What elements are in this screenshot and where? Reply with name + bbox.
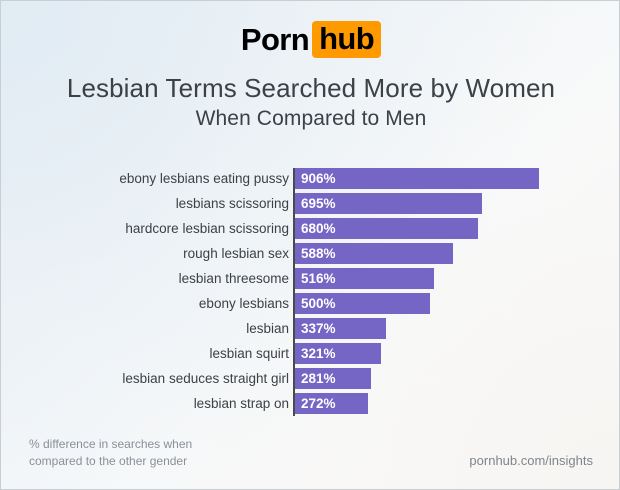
chart-axis-line — [293, 168, 295, 416]
table-row: lesbian337% — [1, 318, 620, 339]
table-row: hardcore lesbian scissoring680% — [1, 218, 620, 239]
bar-value-label: 500% — [301, 293, 336, 314]
bar-value-label: 516% — [301, 268, 336, 289]
chart-subtitle: When Compared to Men — [1, 107, 620, 132]
table-row: lesbian squirt321% — [1, 343, 620, 364]
bar-value-label: 695% — [301, 193, 336, 214]
table-row: lesbian strap on272% — [1, 393, 620, 414]
bar-category-label: ebony lesbians — [199, 293, 289, 314]
bar-category-label: lesbian strap on — [194, 393, 289, 414]
infographic-canvas: Pornhub Lesbian Terms Searched More by W… — [0, 0, 620, 490]
table-row: lesbians scissoring695% — [1, 193, 620, 214]
table-row: ebony lesbians eating pussy906% — [1, 168, 620, 189]
bar-value-label: 680% — [301, 218, 336, 239]
logo-word-hub: hub — [312, 21, 381, 58]
source-link[interactable]: pornhub.com/insights — [469, 453, 593, 468]
bar-value-label: 281% — [301, 368, 336, 389]
table-row: lesbian threesome516% — [1, 268, 620, 289]
bar-category-label: lesbian seduces straight girl — [122, 368, 289, 389]
bar-category-label: lesbian — [246, 318, 289, 339]
pornhub-logo: Pornhub — [1, 21, 620, 58]
chart-title: Lesbian Terms Searched More by Women — [1, 73, 620, 104]
bar-value-label: 588% — [301, 243, 336, 264]
table-row: lesbian seduces straight girl281% — [1, 368, 620, 389]
bar-category-label: lesbian threesome — [179, 268, 289, 289]
bar-category-label: ebony lesbians eating pussy — [119, 168, 289, 189]
bar-category-label: hardcore lesbian scissoring — [125, 218, 289, 239]
bar-category-label: lesbian squirt — [209, 343, 289, 364]
logo-text: Pornhub — [241, 21, 381, 58]
bar-value-label: 321% — [301, 343, 336, 364]
bar-value-label: 906% — [301, 168, 336, 189]
logo-word-porn: Porn — [241, 24, 312, 55]
table-row: ebony lesbians500% — [1, 293, 620, 314]
bar-value-label: 337% — [301, 318, 336, 339]
bar-value-label: 272% — [301, 393, 336, 414]
bar-category-label: rough lesbian sex — [183, 243, 289, 264]
table-row: rough lesbian sex588% — [1, 243, 620, 264]
bar-chart: ebony lesbians eating pussy906%lesbians … — [1, 168, 620, 418]
bar-category-label: lesbians scissoring — [176, 193, 289, 214]
footnote-text: % difference in searches when compared t… — [29, 436, 192, 469]
